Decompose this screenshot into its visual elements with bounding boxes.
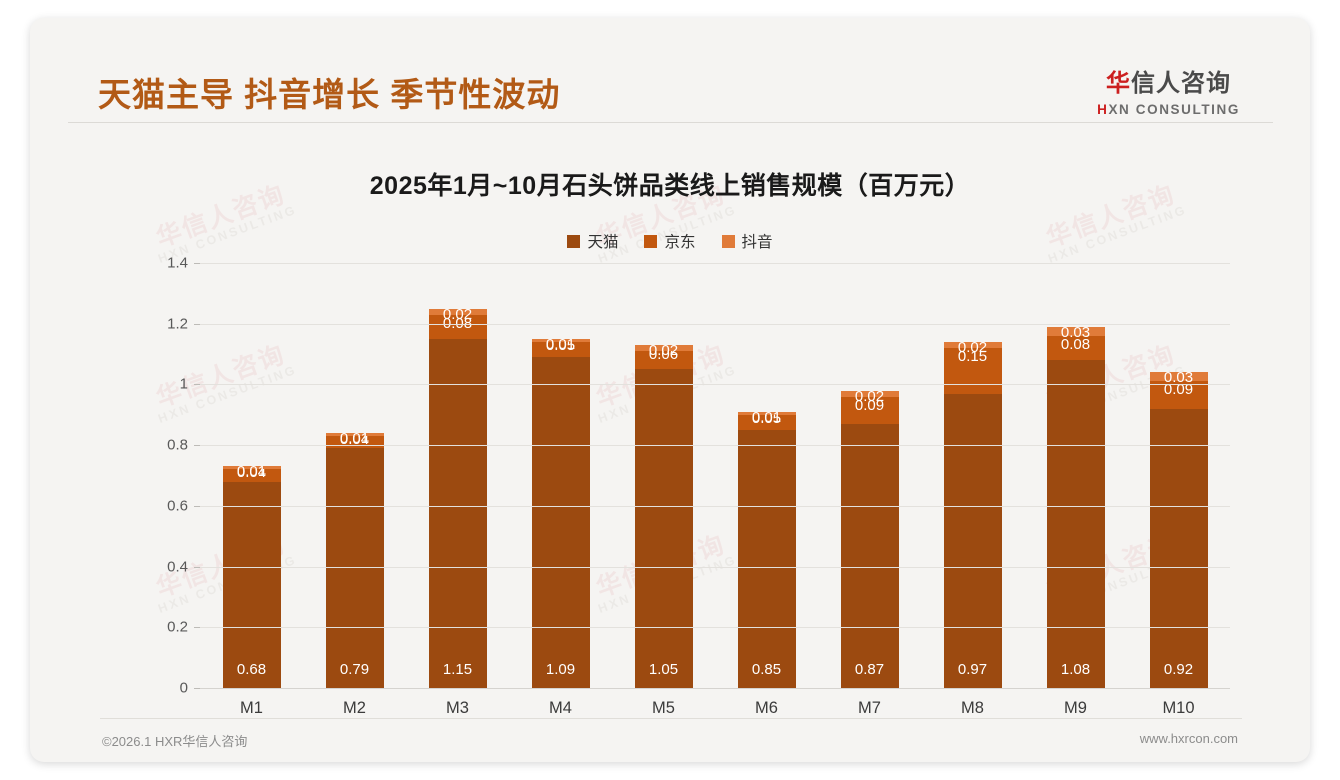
bar-value-label: 1.08 — [1047, 662, 1105, 678]
footer-divider — [100, 718, 1242, 719]
chart-title: 2025年1月~10月石头饼品类线上销售规模（百万元） — [30, 166, 1310, 202]
bar-value-label: 0.97 — [944, 662, 1002, 678]
bar-value-label: 0.02 — [944, 340, 1002, 356]
bar-value-label: 0.03 — [1047, 325, 1105, 341]
bar-value-label: 0.02 — [429, 307, 487, 323]
gridline — [200, 324, 1230, 325]
y-axis-tick-label: 0.2 — [128, 619, 188, 636]
bar-group-M8[interactable]: 0.970.150.02 — [944, 342, 1002, 688]
bar-group-M10[interactable]: 0.920.090.03 — [1150, 372, 1208, 688]
x-axis-tick-label: M3 — [406, 699, 509, 718]
bar-value-label: 0.92 — [1150, 662, 1208, 678]
bar-value-label: 0.85 — [738, 662, 796, 678]
bar-segment-抖音[interactable]: 0.03 — [1150, 372, 1208, 381]
x-axis-tick-label: M7 — [818, 699, 921, 718]
gridline — [200, 263, 1230, 264]
bar-value-label: 0.87 — [841, 662, 899, 678]
slide-header: 天猫主导 抖音增长 季节性波动 华信人咨询 HXN CONSULTING — [30, 18, 1310, 121]
bar-segment-抖音[interactable]: 0.01 — [738, 412, 796, 415]
bar-group-M6[interactable]: 0.850.050.01 — [738, 412, 796, 688]
bar-segment-天猫[interactable]: 0.79 — [326, 448, 384, 688]
bar-segment-天猫[interactable]: 0.85 — [738, 430, 796, 688]
bar-segment-天猫[interactable]: 0.68 — [223, 482, 281, 688]
bar-value-label: 0.01 — [223, 464, 281, 480]
bar-segment-天猫[interactable]: 1.09 — [532, 357, 590, 688]
bar-value-label: 0.02 — [635, 343, 693, 359]
x-axis-tick-label: M9 — [1024, 699, 1127, 718]
y-axis-tick-mark — [194, 324, 200, 325]
bar-group-M5[interactable]: 1.050.060.02 — [635, 345, 693, 688]
gridline — [200, 567, 1230, 568]
y-axis-tick-mark — [194, 688, 200, 689]
legend-item-天猫[interactable]: 天猫 — [567, 230, 618, 252]
bar-value-label: 0.02 — [841, 389, 899, 405]
bar-value-label: 0.01 — [738, 410, 796, 426]
x-axis-tick-label: M4 — [509, 699, 612, 718]
bar-value-label: 1.15 — [429, 662, 487, 678]
y-axis-tick-mark — [194, 384, 200, 385]
chart-plot-area: 0.680.040.01M10.790.040.01M21.150.080.02… — [170, 263, 1230, 688]
y-axis-tick-label: 1.4 — [128, 255, 188, 272]
bar-segment-抖音[interactable]: 0.02 — [429, 309, 487, 315]
bar-group-M9[interactable]: 1.080.080.03 — [1047, 327, 1105, 688]
legend-swatch-icon — [722, 235, 735, 248]
logo-cn-rest: 信人咨询 — [1131, 70, 1231, 97]
gridline — [200, 506, 1230, 507]
bar-segment-天猫[interactable]: 0.97 — [944, 394, 1002, 688]
logo-cn-accent: 华 — [1106, 70, 1131, 97]
y-axis-tick-label: 0.4 — [128, 558, 188, 575]
bar-value-label: 1.09 — [532, 662, 590, 678]
chart-legend: 天猫京东抖音 — [30, 230, 1310, 252]
bar-segment-天猫[interactable]: 1.05 — [635, 369, 693, 688]
y-axis-tick-mark — [194, 627, 200, 628]
bar-group-M4[interactable]: 1.090.050.01 — [532, 339, 590, 688]
x-axis-tick-label: M1 — [200, 699, 303, 718]
x-axis-tick-label: M6 — [715, 699, 818, 718]
bar-group-M1[interactable]: 0.680.040.01 — [223, 466, 281, 688]
y-axis-tick-mark — [194, 567, 200, 568]
y-axis-tick-label: 0.8 — [128, 437, 188, 454]
x-axis-tick-label: M5 — [612, 699, 715, 718]
legend-swatch-icon — [644, 235, 657, 248]
footer-copyright: ©2026.1 HXR华信人咨询 — [102, 731, 247, 750]
gridline — [200, 445, 1230, 446]
bar-segment-天猫[interactable]: 0.87 — [841, 424, 899, 688]
slide-canvas: 天猫主导 抖音增长 季节性波动 华信人咨询 HXN CONSULTING 华信人… — [0, 0, 1340, 780]
x-axis-tick-label: M8 — [921, 699, 1024, 718]
logo-en-rest: XN CONSULTING — [1108, 102, 1240, 117]
bar-segment-天猫[interactable]: 0.92 — [1150, 409, 1208, 688]
y-axis-tick-label: 0.6 — [128, 497, 188, 514]
y-axis-tick-label: 1.2 — [128, 315, 188, 332]
bar-segment-天猫[interactable]: 1.08 — [1047, 360, 1105, 688]
legend-label: 京东 — [664, 230, 695, 252]
legend-item-抖音[interactable]: 抖音 — [722, 230, 773, 252]
bar-segment-抖音[interactable]: 0.02 — [635, 345, 693, 351]
legend-swatch-icon — [567, 235, 580, 248]
y-axis-tick-label: 0 — [128, 680, 188, 697]
bar-value-label: 0.79 — [326, 662, 384, 678]
gridline — [200, 627, 1230, 628]
y-axis-tick-label: 1 — [128, 376, 188, 393]
logo-chinese-name: 华信人咨询 — [1097, 72, 1240, 96]
bar-segment-抖音[interactable]: 0.02 — [944, 342, 1002, 348]
page-title: 天猫主导 抖音增长 季节性波动 — [98, 78, 560, 111]
x-axis-tick-label: M2 — [303, 699, 406, 718]
x-axis-line — [200, 688, 1230, 689]
x-axis-tick-label: M10 — [1127, 699, 1230, 718]
bar-value-label: 0.68 — [223, 662, 281, 678]
logo-en-accent: H — [1097, 102, 1108, 117]
header-divider — [68, 122, 1273, 123]
bar-segment-抖音[interactable]: 0.01 — [223, 466, 281, 469]
y-axis-tick-mark — [194, 506, 200, 507]
y-axis-tick-mark — [194, 263, 200, 264]
footer-website[interactable]: www.hxrcon.com — [1140, 731, 1238, 746]
bar-segment-抖音[interactable]: 0.01 — [532, 339, 590, 342]
logo-english-name: HXN CONSULTING — [1097, 103, 1240, 117]
gridline — [200, 384, 1230, 385]
bar-value-label: 0.01 — [532, 337, 590, 353]
slide: 天猫主导 抖音增长 季节性波动 华信人咨询 HXN CONSULTING 华信人… — [30, 18, 1310, 762]
bar-segment-抖音[interactable]: 0.03 — [1047, 327, 1105, 336]
bar-segment-抖音[interactable]: 0.01 — [326, 433, 384, 436]
company-logo: 华信人咨询 HXN CONSULTING — [1097, 72, 1240, 117]
bars-layer: 0.680.040.01M10.790.040.01M21.150.080.02… — [200, 263, 1230, 688]
legend-label: 抖音 — [742, 230, 773, 252]
bar-group-M7[interactable]: 0.870.090.02 — [841, 391, 899, 688]
bar-segment-天猫[interactable]: 1.15 — [429, 339, 487, 688]
bar-segment-抖音[interactable]: 0.02 — [841, 391, 899, 397]
y-axis-tick-mark — [194, 445, 200, 446]
legend-label: 天猫 — [587, 230, 618, 252]
bar-group-M2[interactable]: 0.790.040.01 — [326, 433, 384, 688]
bar-value-label: 1.05 — [635, 662, 693, 678]
legend-item-京东[interactable]: 京东 — [644, 230, 695, 252]
bar-group-M3[interactable]: 1.150.080.02 — [429, 309, 487, 688]
